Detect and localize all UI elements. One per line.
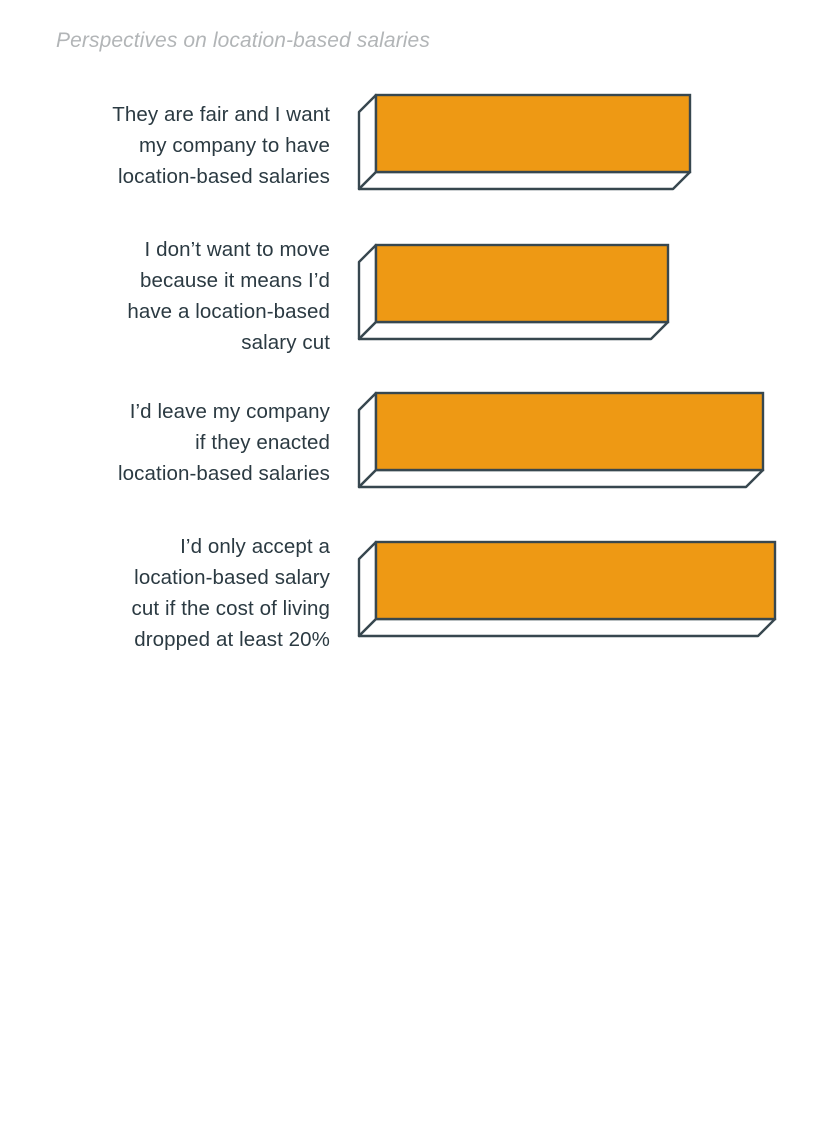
- bar-bottom-face: [359, 172, 690, 189]
- bar-front-face: [376, 542, 775, 619]
- bar-front-face: [376, 393, 763, 470]
- bar-shape[interactable]: [355, 95, 715, 207]
- bar-category-label: I’d leave my company if they enacted loc…: [30, 396, 330, 489]
- bar-label-line: salary cut: [30, 327, 330, 358]
- bar-label-line: because it means I’d: [30, 265, 330, 296]
- bar-bottom-face: [359, 322, 668, 339]
- chart-root: Perspectives on location-based salaries …: [0, 0, 831, 700]
- bar-shape[interactable]: [355, 245, 695, 357]
- bar-value-label: 30%: [613, 810, 743, 841]
- bar-label-line: location-based salaries: [30, 458, 330, 489]
- bar-bottom-face: [359, 619, 775, 636]
- bar-chart-plot-area: They are fair and I want my company to h…: [0, 0, 831, 700]
- bar-front-face: [376, 245, 668, 322]
- bar-front-face: [376, 95, 690, 172]
- bar-label-line: if they enacted: [30, 427, 330, 458]
- bar-label-line: location-based salaries: [30, 161, 330, 192]
- bar-label-line: cut if the cost of living: [30, 593, 330, 624]
- bar-label-line: They are fair and I want: [30, 99, 330, 130]
- bar-category-label: They are fair and I want my company to h…: [30, 99, 330, 192]
- bar-bottom-face: [359, 470, 763, 487]
- bar-value-label: 23%: [518, 514, 648, 545]
- bar-category-label: I don’t want to move because it means I’…: [30, 234, 330, 358]
- bar-label-line: I’d leave my company: [30, 396, 330, 427]
- bar-value-label: 25%: [540, 214, 670, 245]
- bar-label-line: my company to have: [30, 130, 330, 161]
- bar-value-label: 31%: [625, 1108, 755, 1139]
- bar-label-line: dropped at least 20%: [30, 624, 330, 655]
- bar-category-label: I’d only accept a location-based salary …: [30, 531, 330, 655]
- bar-label-line: have a location-based: [30, 296, 330, 327]
- bar-shape[interactable]: [355, 542, 802, 654]
- bar-shape[interactable]: [355, 393, 790, 505]
- bar-label-line: location-based salary: [30, 562, 330, 593]
- bar-label-line: I’d only accept a: [30, 531, 330, 562]
- bar-label-line: I don’t want to move: [30, 234, 330, 265]
